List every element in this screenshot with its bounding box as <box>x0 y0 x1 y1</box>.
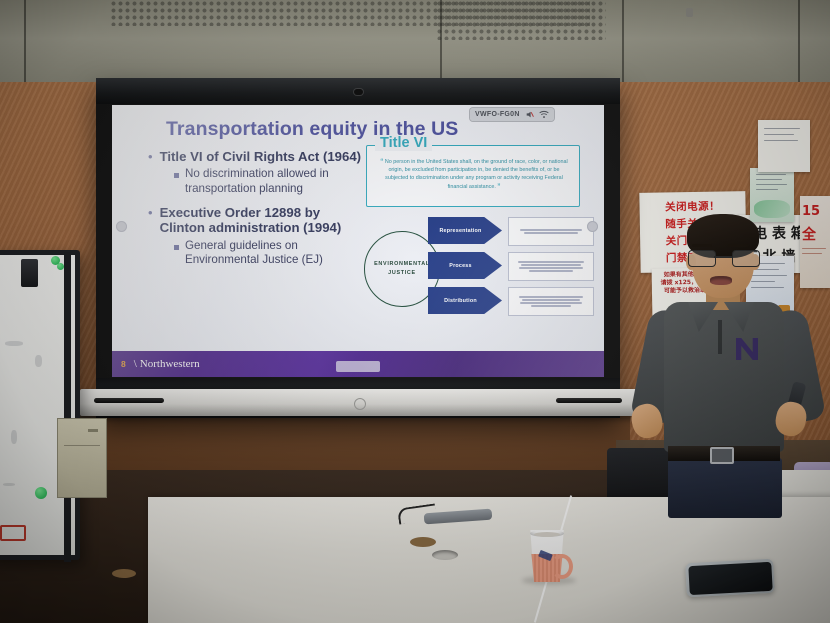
slide-handle-left-icon[interactable] <box>116 221 127 232</box>
sub-bullet-1-text: No discrimination allowed in transportat… <box>185 167 362 195</box>
presenter-mouth <box>710 276 732 285</box>
cabinet-handle[interactable] <box>88 429 98 432</box>
quote-close-icon: ” <box>497 182 500 192</box>
smartboard-pen-tray[interactable] <box>80 389 638 416</box>
ej-desc-distribution <box>508 287 594 316</box>
whiteboard-eraser[interactable] <box>21 259 38 287</box>
ej-arrow-representation: Representation <box>428 217 502 244</box>
wall-seam-3 <box>622 0 624 86</box>
wifi-icon[interactable] <box>539 110 549 119</box>
poster-white-top-right <box>758 120 810 172</box>
ej-label-process: Process <box>449 263 471 269</box>
paper-cup[interactable] <box>528 530 566 582</box>
ej-desc-process <box>508 252 594 281</box>
bullet-2-text: Executive Order 12898 by Clinton adminis… <box>160 205 362 236</box>
eyebrow-right <box>728 244 748 247</box>
eyebrow-left <box>692 244 712 247</box>
title-vi-heading: Title VI <box>375 135 432 151</box>
slide-bullet-list: • Title VI of Civil Rights Act (1964) No… <box>148 149 362 276</box>
device-status-pill[interactable]: VWFO-FG0N <box>470 108 554 121</box>
wall-seam-2 <box>440 0 442 86</box>
smartphone[interactable] <box>685 559 775 598</box>
northwestern-logo: \Northwestern <box>134 358 200 370</box>
title-vi-callout-box: Title VI “ No person in the United State… <box>366 145 580 207</box>
presenter-polo-shirt <box>664 302 784 452</box>
slideshow-control-overlay[interactable] <box>336 361 380 372</box>
slide-handle-right-icon[interactable] <box>587 221 598 232</box>
wall-seam-4 <box>798 0 800 86</box>
stylus-pen-right[interactable] <box>556 398 622 403</box>
shirt-placket <box>718 320 722 354</box>
sub-bullet-square-icon-2 <box>174 245 179 250</box>
cable-grommet-2 <box>432 550 458 560</box>
presenter <box>636 214 826 514</box>
sub-bullet-1: No discrimination allowed in transportat… <box>174 167 362 195</box>
red-clip-desk <box>0 525 26 541</box>
bullet-item-2: • Executive Order 12898 by Clinton admin… <box>148 205 362 236</box>
logo-mark-icon: \ <box>134 358 137 370</box>
magnet-green-top2[interactable] <box>57 263 64 270</box>
quote-open-icon: “ <box>380 157 383 167</box>
environmental-justice-diagram: ENVIRONMENTAL JUSTICE Representation Pro… <box>360 217 592 317</box>
magnet-green-bottom[interactable] <box>35 487 47 499</box>
presentation-slide: Transportation equity in the US • Title … <box>112 105 604 377</box>
lens-left <box>688 250 716 267</box>
ceiling-hook <box>686 8 693 17</box>
ej-label-representation: Representation <box>439 228 481 234</box>
display-camera-icon <box>354 89 363 95</box>
whiteboard-smudge-3 <box>11 430 17 444</box>
whiteboard-smudge-1 <box>5 341 23 346</box>
phone-screen[interactable] <box>688 561 772 594</box>
lecture-room-photo: 关闭电源！ 随手关灯！ 关门并确认 门禁正常！ 电 表 箱 在 北 墙 后 15… <box>0 0 830 623</box>
cup-handle <box>551 554 573 579</box>
smartboard-display[interactable]: Transportation equity in the US • Title … <box>96 78 620 418</box>
bullet-item-1: • Title VI of Civil Rights Act (1964) <box>148 149 362 164</box>
home-button-icon[interactable] <box>354 398 366 410</box>
poster-line-1: 关闭电源！ <box>665 199 720 215</box>
bullet-dot-icon: • <box>148 149 153 164</box>
acoustic-perforation-right <box>436 0 606 40</box>
display-screen[interactable]: Transportation equity in the US • Title … <box>112 105 604 377</box>
ej-arrow-process: Process <box>428 252 502 279</box>
title-vi-quote: “ No person in the United States shall, … <box>379 158 569 191</box>
lens-right <box>732 250 760 267</box>
eyeglasses <box>688 250 758 265</box>
cup-opening <box>534 532 560 537</box>
logo-wordmark: Northwestern <box>140 358 200 370</box>
stylus-pen-left[interactable] <box>94 398 164 403</box>
whiteboard-frame-post <box>64 252 71 562</box>
ej-desc-representation <box>508 217 594 246</box>
glasses-bridge <box>714 256 732 258</box>
sub-bullet-2: General guidelines on Environmental Just… <box>174 239 362 267</box>
whiteboard-smudge-4 <box>3 483 15 486</box>
sub-bullet-square-icon <box>174 173 179 178</box>
device-name-label: VWFO-FG0N <box>475 111 520 118</box>
ej-label-distribution: Distribution <box>444 298 477 304</box>
bullet-1-text: Title VI of Civil Rights Act (1964) <box>160 149 362 164</box>
ej-arrow-distribution: Distribution <box>428 287 502 314</box>
presenter-trousers <box>668 458 782 518</box>
metal-cabinet <box>57 418 107 498</box>
wall-seam-1 <box>24 0 26 86</box>
slide-page-number: 8 <box>121 359 126 369</box>
bullet-dot-icon-2: • <box>148 205 153 236</box>
cable-grommet-1 <box>410 537 436 547</box>
whiteboard-smudge-2 <box>35 355 42 367</box>
title-vi-quote-text: No person in the United States shall, on… <box>385 159 568 190</box>
sub-bullet-2-text: General guidelines on Environmental Just… <box>185 239 362 267</box>
cabinet-seam <box>64 445 100 446</box>
belt-buckle <box>710 447 734 464</box>
cable-grommet-3 <box>112 569 136 578</box>
mute-icon[interactable] <box>525 110 534 119</box>
